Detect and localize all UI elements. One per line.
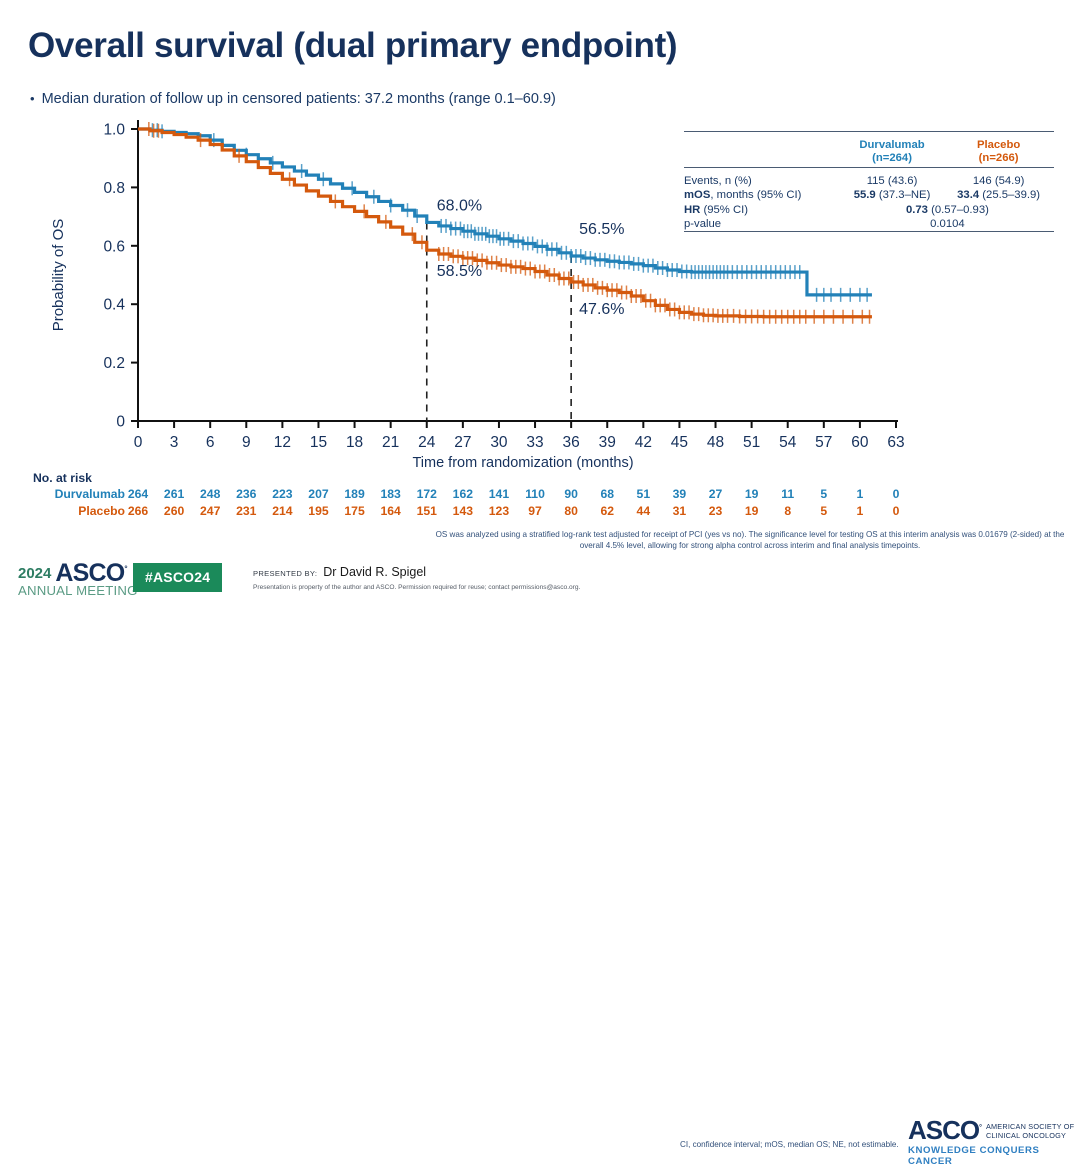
risk-value-durvalumab: 0 [881,487,911,501]
risk-value-durvalumab: 189 [340,487,370,501]
stats-header-row: Durvalumab (n=264) Placebo (n=266) [684,137,1054,167]
risk-value-placebo: 151 [412,504,442,518]
risk-value-placebo: 23 [701,504,731,518]
x-tick-label: 39 [599,434,616,451]
stats-events-placebo: 146 (54.9) [943,174,1054,188]
risk-value-durvalumab: 51 [628,487,658,501]
asco-society-logo: ASCO° AMERICAN SOCIETY OF CLINICAL ONCOL… [908,1119,1074,1141]
asco-annual-meeting-logo: 2024 ASCO° [18,562,127,585]
y-tick-label: 0.8 [103,180,125,197]
x-tick-label: 48 [707,434,724,451]
x-tick-label: 6 [206,434,215,451]
risk-value-placebo: 1 [845,504,875,518]
annotation-565: 56.5% [579,221,624,238]
y-tick-label: 0 [116,414,125,431]
risk-value-placebo: 214 [267,504,297,518]
x-axis-label: Time from randomization (months) [412,455,633,471]
annotation-680: 68.0% [437,197,482,214]
risk-value-durvalumab: 90 [556,487,586,501]
annotation-585: 58.5% [437,263,482,280]
abbreviations-legend: CI, confidence interval; mOS, median OS;… [680,1140,899,1149]
risk-value-durvalumab: 68 [592,487,622,501]
risk-value-placebo: 247 [195,504,225,518]
stats-label-mos: mOS, months (95% CI) [684,188,841,202]
risk-value-placebo: 31 [664,504,694,518]
x-tick-label: 60 [851,434,869,451]
bullet-marker: • [30,92,35,105]
risk-value-durvalumab: 39 [664,487,694,501]
risk-label-durvalumab: Durvalumab [0,487,125,501]
risk-value-placebo: 260 [159,504,189,518]
risk-value-placebo: 164 [376,504,406,518]
slide: Overall survival (dual primary endpoint)… [0,0,1080,607]
x-tick-label: 21 [382,434,399,451]
risk-value-placebo: 195 [303,504,333,518]
page-title: Overall survival (dual primary endpoint) [28,26,677,66]
x-tick-label: 45 [671,434,688,451]
risk-value-placebo: 266 [123,504,153,518]
x-tick-label: 18 [346,434,363,451]
risk-label-placebo: Placebo [0,504,125,518]
risk-value-durvalumab: 172 [412,487,442,501]
asco-year: 2024 [18,566,53,581]
x-tick-label: 0 [134,434,143,451]
stats-mos-placebo: 33.4 (25.5–39.9) [943,188,1054,202]
risk-value-placebo: 5 [809,504,839,518]
x-tick-label: 15 [310,434,327,451]
x-tick-label: 42 [635,434,652,451]
stats-row-mos: mOS, months (95% CI) 55.9 (37.3–NE) 33.4… [684,188,1054,202]
risk-value-placebo: 0 [881,504,911,518]
risk-value-durvalumab: 264 [123,487,153,501]
subtitle-bullet: • Median duration of follow up in censor… [30,91,556,107]
asco-wordmark: ASCO° [55,562,126,585]
x-tick-label: 63 [887,434,904,451]
stats-row-pvalue: p-value 0.0104 [684,217,1054,232]
risk-row-placebo: Placebo 26626024723121419517516415114312… [0,504,1000,521]
risk-value-durvalumab: 248 [195,487,225,501]
risk-value-placebo: 44 [628,504,658,518]
stats-row-hr: HR (95% CI) 0.73 (0.57–0.93) [684,202,1054,216]
risk-value-placebo: 97 [520,504,550,518]
stats-label-pvalue: p-value [684,217,841,232]
risk-value-placebo: 62 [592,504,622,518]
y-tick-label: 0.6 [103,238,125,255]
presenter-name: Dr David R. Spigel [323,565,426,579]
stats-col-placebo: Placebo (n=266) [943,137,1054,167]
risk-value-placebo: 19 [737,504,767,518]
stats-mos-durvalumab: 55.9 (37.3–NE) [841,188,943,202]
risk-table-title: No. at risk [33,471,92,485]
stats-col-durvalumab: Durvalumab (n=264) [841,137,943,167]
x-tick-label: 24 [418,434,436,451]
risk-row-durvalumab: Durvalumab 26426124823622320718918317216… [0,487,1000,504]
stats-label-events: Events, n (%) [684,174,841,188]
x-tick-label: 3 [170,434,179,451]
risk-value-durvalumab: 261 [159,487,189,501]
x-tick-label: 30 [490,434,508,451]
y-tick-label: 1.0 [103,122,125,139]
stats-label-hr: HR (95% CI) [684,202,841,216]
asco-right-wordmark: ASCO° [908,1119,981,1141]
asco-annual-meeting-text: ANNUAL MEETING [18,583,138,598]
risk-value-durvalumab: 223 [267,487,297,501]
risk-value-durvalumab: 162 [448,487,478,501]
risk-value-placebo: 231 [231,504,261,518]
risk-value-placebo: 8 [773,504,803,518]
x-tick-label: 57 [815,434,832,451]
risk-value-durvalumab: 207 [303,487,333,501]
asco-society-subtitle: AMERICAN SOCIETY OF CLINICAL ONCOLOGY [986,1119,1074,1140]
stats-row-events: Events, n (%) 115 (43.6) 146 (54.9) [684,174,1054,188]
risk-value-durvalumab: 141 [484,487,514,501]
risk-value-durvalumab: 27 [701,487,731,501]
x-tick-label: 27 [454,434,471,451]
x-tick-label: 12 [274,434,291,451]
risk-value-durvalumab: 236 [231,487,261,501]
asco-tagline: KNOWLEDGE CONQUERS CANCER [908,1145,1080,1167]
permission-notice: Presentation is property of the author a… [253,584,580,591]
risk-value-durvalumab: 183 [376,487,406,501]
x-tick-label: 36 [563,434,580,451]
y-tick-label: 0.2 [103,355,125,372]
risk-value-durvalumab: 11 [773,487,803,501]
risk-value-durvalumab: 1 [845,487,875,501]
risk-value-durvalumab: 5 [809,487,839,501]
y-axis-label: Probability of OS [50,219,67,332]
stats-events-durvalumab: 115 (43.6) [841,174,943,188]
risk-value-placebo: 123 [484,504,514,518]
y-tick-label: 0.4 [103,297,125,314]
risk-value-placebo: 175 [340,504,370,518]
risk-value-durvalumab: 19 [737,487,767,501]
x-tick-label: 33 [526,434,543,451]
risk-value-durvalumab: 110 [520,487,550,501]
statistics-table: Durvalumab (n=264) Placebo (n=266) Event… [684,131,1054,238]
presented-by-label: PRESENTED BY: [253,569,317,578]
presented-by: PRESENTED BY: Dr David R. Spigel [253,565,426,579]
annotation-476: 47.6% [579,301,624,318]
x-tick-label: 54 [779,434,797,451]
slide-footer: 2024 ASCO° ANNUAL MEETING #ASCO24 PRESEN… [0,556,1080,607]
hashtag-badge: #ASCO24 [133,563,222,592]
risk-value-placebo: 80 [556,504,586,518]
x-tick-label: 9 [242,434,251,451]
stats-pvalue-value: 0.0104 [841,217,1054,232]
bullet-text: Median duration of follow up in censored… [42,91,556,107]
risk-value-placebo: 143 [448,504,478,518]
footnote: OS was analyzed using a stratified log-r… [432,529,1068,551]
x-tick-label: 51 [743,434,760,451]
stats-hr-value: 0.73 (0.57–0.93) [841,202,1054,216]
